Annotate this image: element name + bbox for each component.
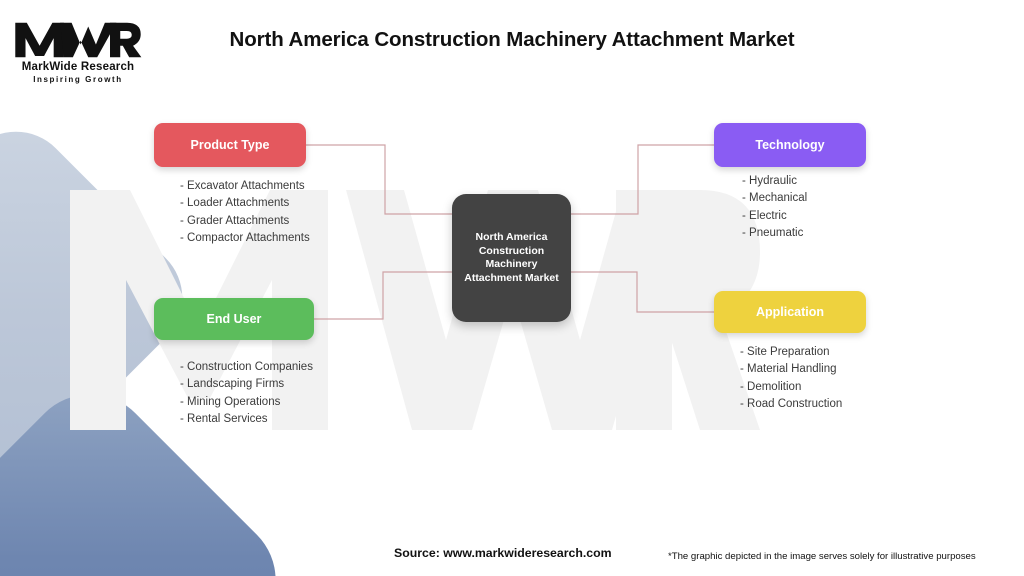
branch-node-end-user[interactable]: End User bbox=[154, 298, 314, 340]
branch-items-product-type: - Excavator Attachments - Loader Attachm… bbox=[180, 178, 310, 247]
center-node-label: North America Construction Machinery Att… bbox=[458, 231, 565, 285]
branch-label-product-type: Product Type bbox=[191, 138, 270, 152]
list-item: - Hydraulic bbox=[742, 173, 807, 190]
center-line-1: North America bbox=[476, 231, 548, 243]
list-item: - Landscaping Firms bbox=[180, 376, 313, 393]
branch-label-application: Application bbox=[756, 305, 824, 319]
branch-items-end-user: - Construction Companies - Landscaping F… bbox=[180, 359, 313, 428]
list-item: - Mechanical bbox=[742, 190, 807, 207]
list-item: - Loader Attachments bbox=[180, 195, 310, 212]
list-item: - Mining Operations bbox=[180, 394, 313, 411]
list-item: - Road Construction bbox=[740, 396, 842, 413]
list-item: - Excavator Attachments bbox=[180, 178, 310, 195]
list-item: - Material Handling bbox=[740, 361, 842, 378]
branch-items-application: - Site Preparation - Material Handling -… bbox=[740, 344, 842, 413]
list-item: - Electric bbox=[742, 208, 807, 225]
branch-label-technology: Technology bbox=[755, 138, 824, 152]
list-item: - Site Preparation bbox=[740, 344, 842, 361]
center-line-4: Attachment Market bbox=[464, 272, 559, 284]
branch-items-technology: - Hydraulic - Mechanical - Electric - Pn… bbox=[742, 173, 807, 242]
list-item: - Construction Companies bbox=[180, 359, 313, 376]
branch-node-product-type[interactable]: Product Type bbox=[154, 123, 306, 167]
branch-label-end-user: End User bbox=[207, 312, 262, 326]
source-text: Source: www.markwideresearch.com bbox=[394, 546, 612, 560]
center-node[interactable]: North America Construction Machinery Att… bbox=[452, 194, 571, 322]
list-item: - Compactor Attachments bbox=[180, 230, 310, 247]
list-item: - Pneumatic bbox=[742, 225, 807, 242]
branch-node-application[interactable]: Application bbox=[714, 291, 866, 333]
center-line-3: Machinery bbox=[486, 258, 538, 270]
center-line-2: Construction bbox=[479, 245, 544, 257]
disclaimer-text: *The graphic depicted in the image serve… bbox=[668, 551, 976, 562]
list-item: - Grader Attachments bbox=[180, 213, 310, 230]
list-item: - Rental Services bbox=[180, 411, 313, 428]
diagram-canvas: MarkWide Research Inspiring Growth North… bbox=[0, 0, 1024, 576]
list-item: - Demolition bbox=[740, 379, 842, 396]
branch-node-technology[interactable]: Technology bbox=[714, 123, 866, 167]
